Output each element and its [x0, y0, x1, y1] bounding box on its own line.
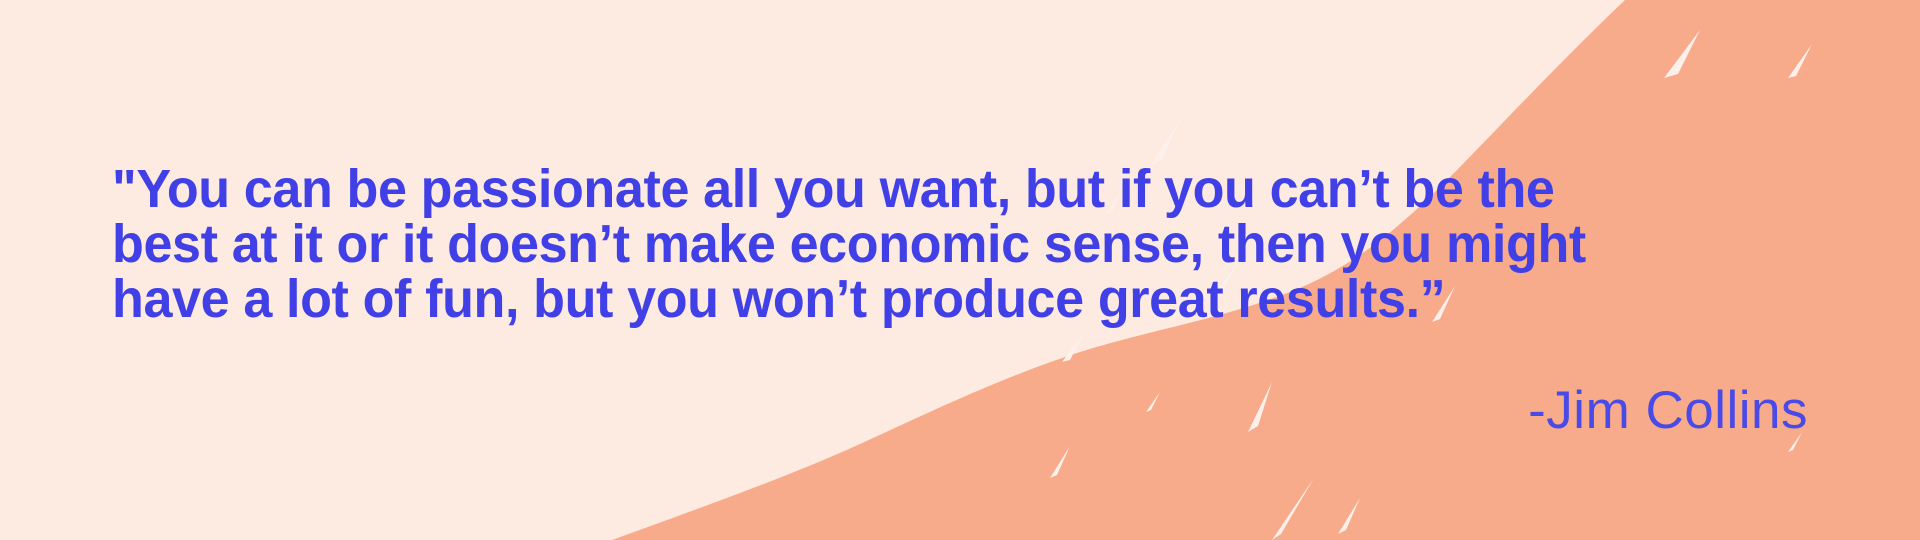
quote-line-2: best at it or it doesn’t make economic s…	[112, 217, 1656, 272]
blob-inner-highlight	[1455, 0, 1625, 172]
streak-2-icon	[1788, 44, 1812, 78]
quote-line-3: have a lot of fun, but you won’t produce…	[112, 272, 1656, 327]
quote-card: "You can be passionate all you want, but…	[0, 0, 1920, 540]
streak-3-icon	[1062, 330, 1086, 362]
streak-1-icon	[1664, 30, 1700, 78]
quote-line-1: "You can be passionate all you want, but…	[112, 162, 1656, 217]
quote-attribution: -Jim Collins	[0, 382, 1808, 440]
streak-8-icon	[1272, 478, 1314, 540]
streak-13-icon	[1338, 498, 1360, 534]
streak-9-icon	[1050, 446, 1070, 478]
quote-text-block: "You can be passionate all you want, but…	[112, 162, 1712, 327]
